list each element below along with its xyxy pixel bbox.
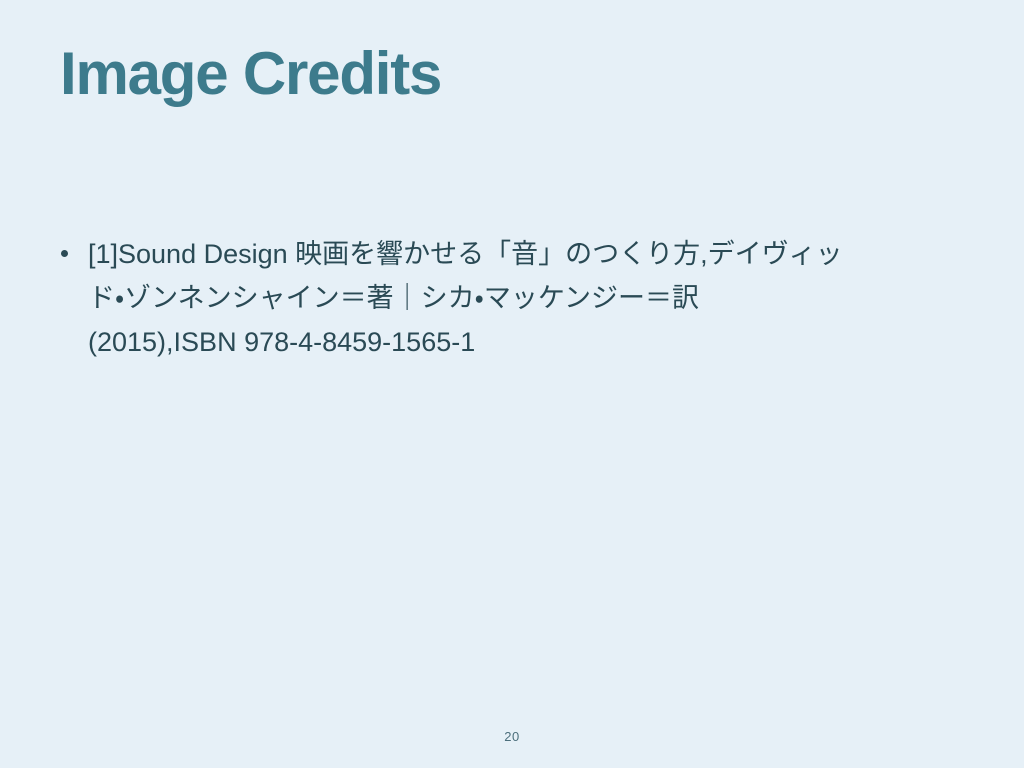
list-item-line-3: (2015),ISBN 978-4-8459-1565-1 (88, 320, 948, 364)
bullet-dot-icon (58, 232, 70, 276)
page-number: 20 (0, 728, 1024, 746)
list-item-line-1: [1]Sound Design 映画を響かせる「音」のつくり方,デイヴィッ (88, 232, 948, 276)
list-item-line-2: ド・ゾンネンシャイン＝著｜シカ・マッケンジー＝訳 (88, 276, 948, 320)
credits-list: [1]Sound Design 映画を響かせる「音」のつくり方,デイヴィッ ド・… (52, 232, 972, 364)
credits-body: [1]Sound Design 映画を響かせる「音」のつくり方,デイヴィッ ド・… (52, 232, 972, 374)
list-item: [1]Sound Design 映画を響かせる「音」のつくり方,デイヴィッ ド・… (52, 232, 972, 364)
list-item-text: [1]Sound Design 映画を響かせる「音」のつくり方,デイヴィッ ド・… (88, 232, 948, 364)
page-title: Image Credits (60, 42, 960, 106)
slide: Image Credits [1]Sound Design 映画を響かせる「音」… (0, 0, 1024, 768)
